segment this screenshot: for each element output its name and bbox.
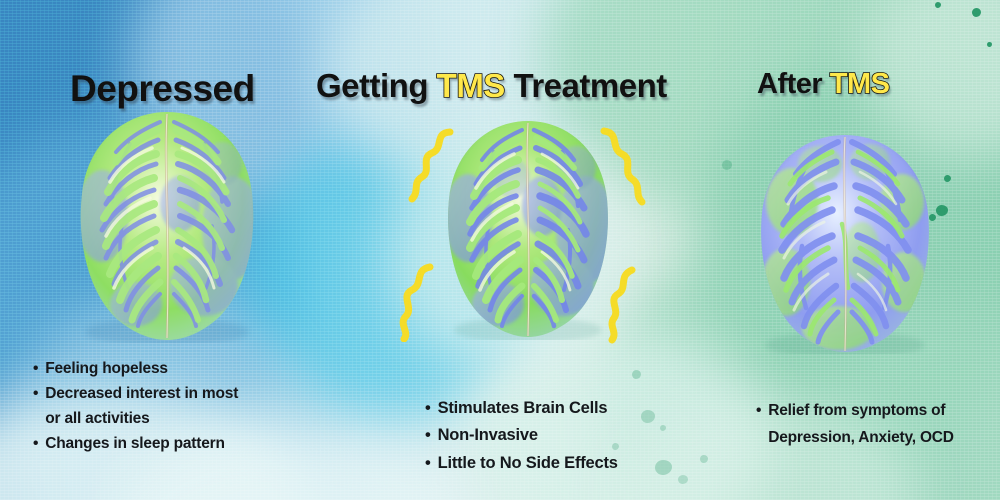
list-item-line: Decreased interest in most xyxy=(45,381,238,406)
tms-wave-top-right xyxy=(596,126,650,206)
panel-title-depressed: Depressed xyxy=(70,68,255,110)
title-lead-text: Getting xyxy=(316,67,437,104)
title-highlight-tms: TMS xyxy=(437,67,505,104)
list-item-line: Stimulates Brain Cells xyxy=(438,395,608,423)
infographic-canvas: Depressed xyxy=(0,0,1000,500)
list-item: • Changes in sleep pattern xyxy=(33,431,238,456)
bullet-icon: • xyxy=(425,422,431,450)
list-item-line: Feeling hopeless xyxy=(45,356,168,381)
title-highlight-tms: TMS xyxy=(830,68,890,100)
brain-top-view-during-treatment xyxy=(442,118,614,340)
bullet-list-getting-tms-treatment: • Stimulates Brain Cells • Non-Invasive … xyxy=(385,395,618,478)
tms-wave-top-left xyxy=(404,127,460,205)
bullet-icon: • xyxy=(33,431,38,456)
list-item: • Little to No Side Effects xyxy=(425,450,618,478)
list-item-line: Little to No Side Effects xyxy=(438,450,618,478)
list-item: • Non-Invasive xyxy=(425,422,618,450)
tms-wave-bottom-left xyxy=(396,262,452,342)
panel-depressed: Depressed xyxy=(0,0,335,500)
list-item-line: Non-Invasive xyxy=(438,422,538,450)
list-item-line: Relief from symptoms of xyxy=(768,397,954,424)
panel-title-getting-tms-treatment: Getting TMS Treatment xyxy=(316,67,667,105)
bullet-list-after-tms: • Relief from symptoms of Depression, An… xyxy=(716,397,954,451)
list-item-line: Depression, Anxiety, OCD xyxy=(768,424,954,451)
list-item-line: Changes in sleep pattern xyxy=(45,431,225,456)
bullet-list-depressed: • Feeling hopeless • Decreased interest … xyxy=(33,356,238,456)
bullet-icon: • xyxy=(425,395,431,423)
bullet-icon: • xyxy=(425,450,431,478)
list-item: • Relief from symptoms of Depression, An… xyxy=(756,397,954,451)
bullet-icon: • xyxy=(33,381,38,406)
bullet-icon: • xyxy=(756,397,761,424)
brain-top-view-depressed xyxy=(72,108,262,343)
title-lead-text: After xyxy=(757,68,830,100)
list-item-line: or all activities xyxy=(45,406,238,431)
title-trail-text: Treatment xyxy=(505,67,667,104)
panel-title-after-tms: After TMS xyxy=(757,68,889,101)
list-item: • Stimulates Brain Cells xyxy=(425,395,618,423)
bullet-icon: • xyxy=(33,356,38,381)
brain-top-view-after-treatment xyxy=(752,132,938,354)
list-item: • Feeling hopeless xyxy=(33,356,238,381)
panel-after-tms: After TMS xyxy=(665,0,1000,500)
tms-wave-bottom-right xyxy=(606,266,658,344)
panel-getting-tms-treatment: Getting TMS Treatment xyxy=(335,0,665,500)
list-item: • Decreased interest in most or all acti… xyxy=(33,381,238,431)
